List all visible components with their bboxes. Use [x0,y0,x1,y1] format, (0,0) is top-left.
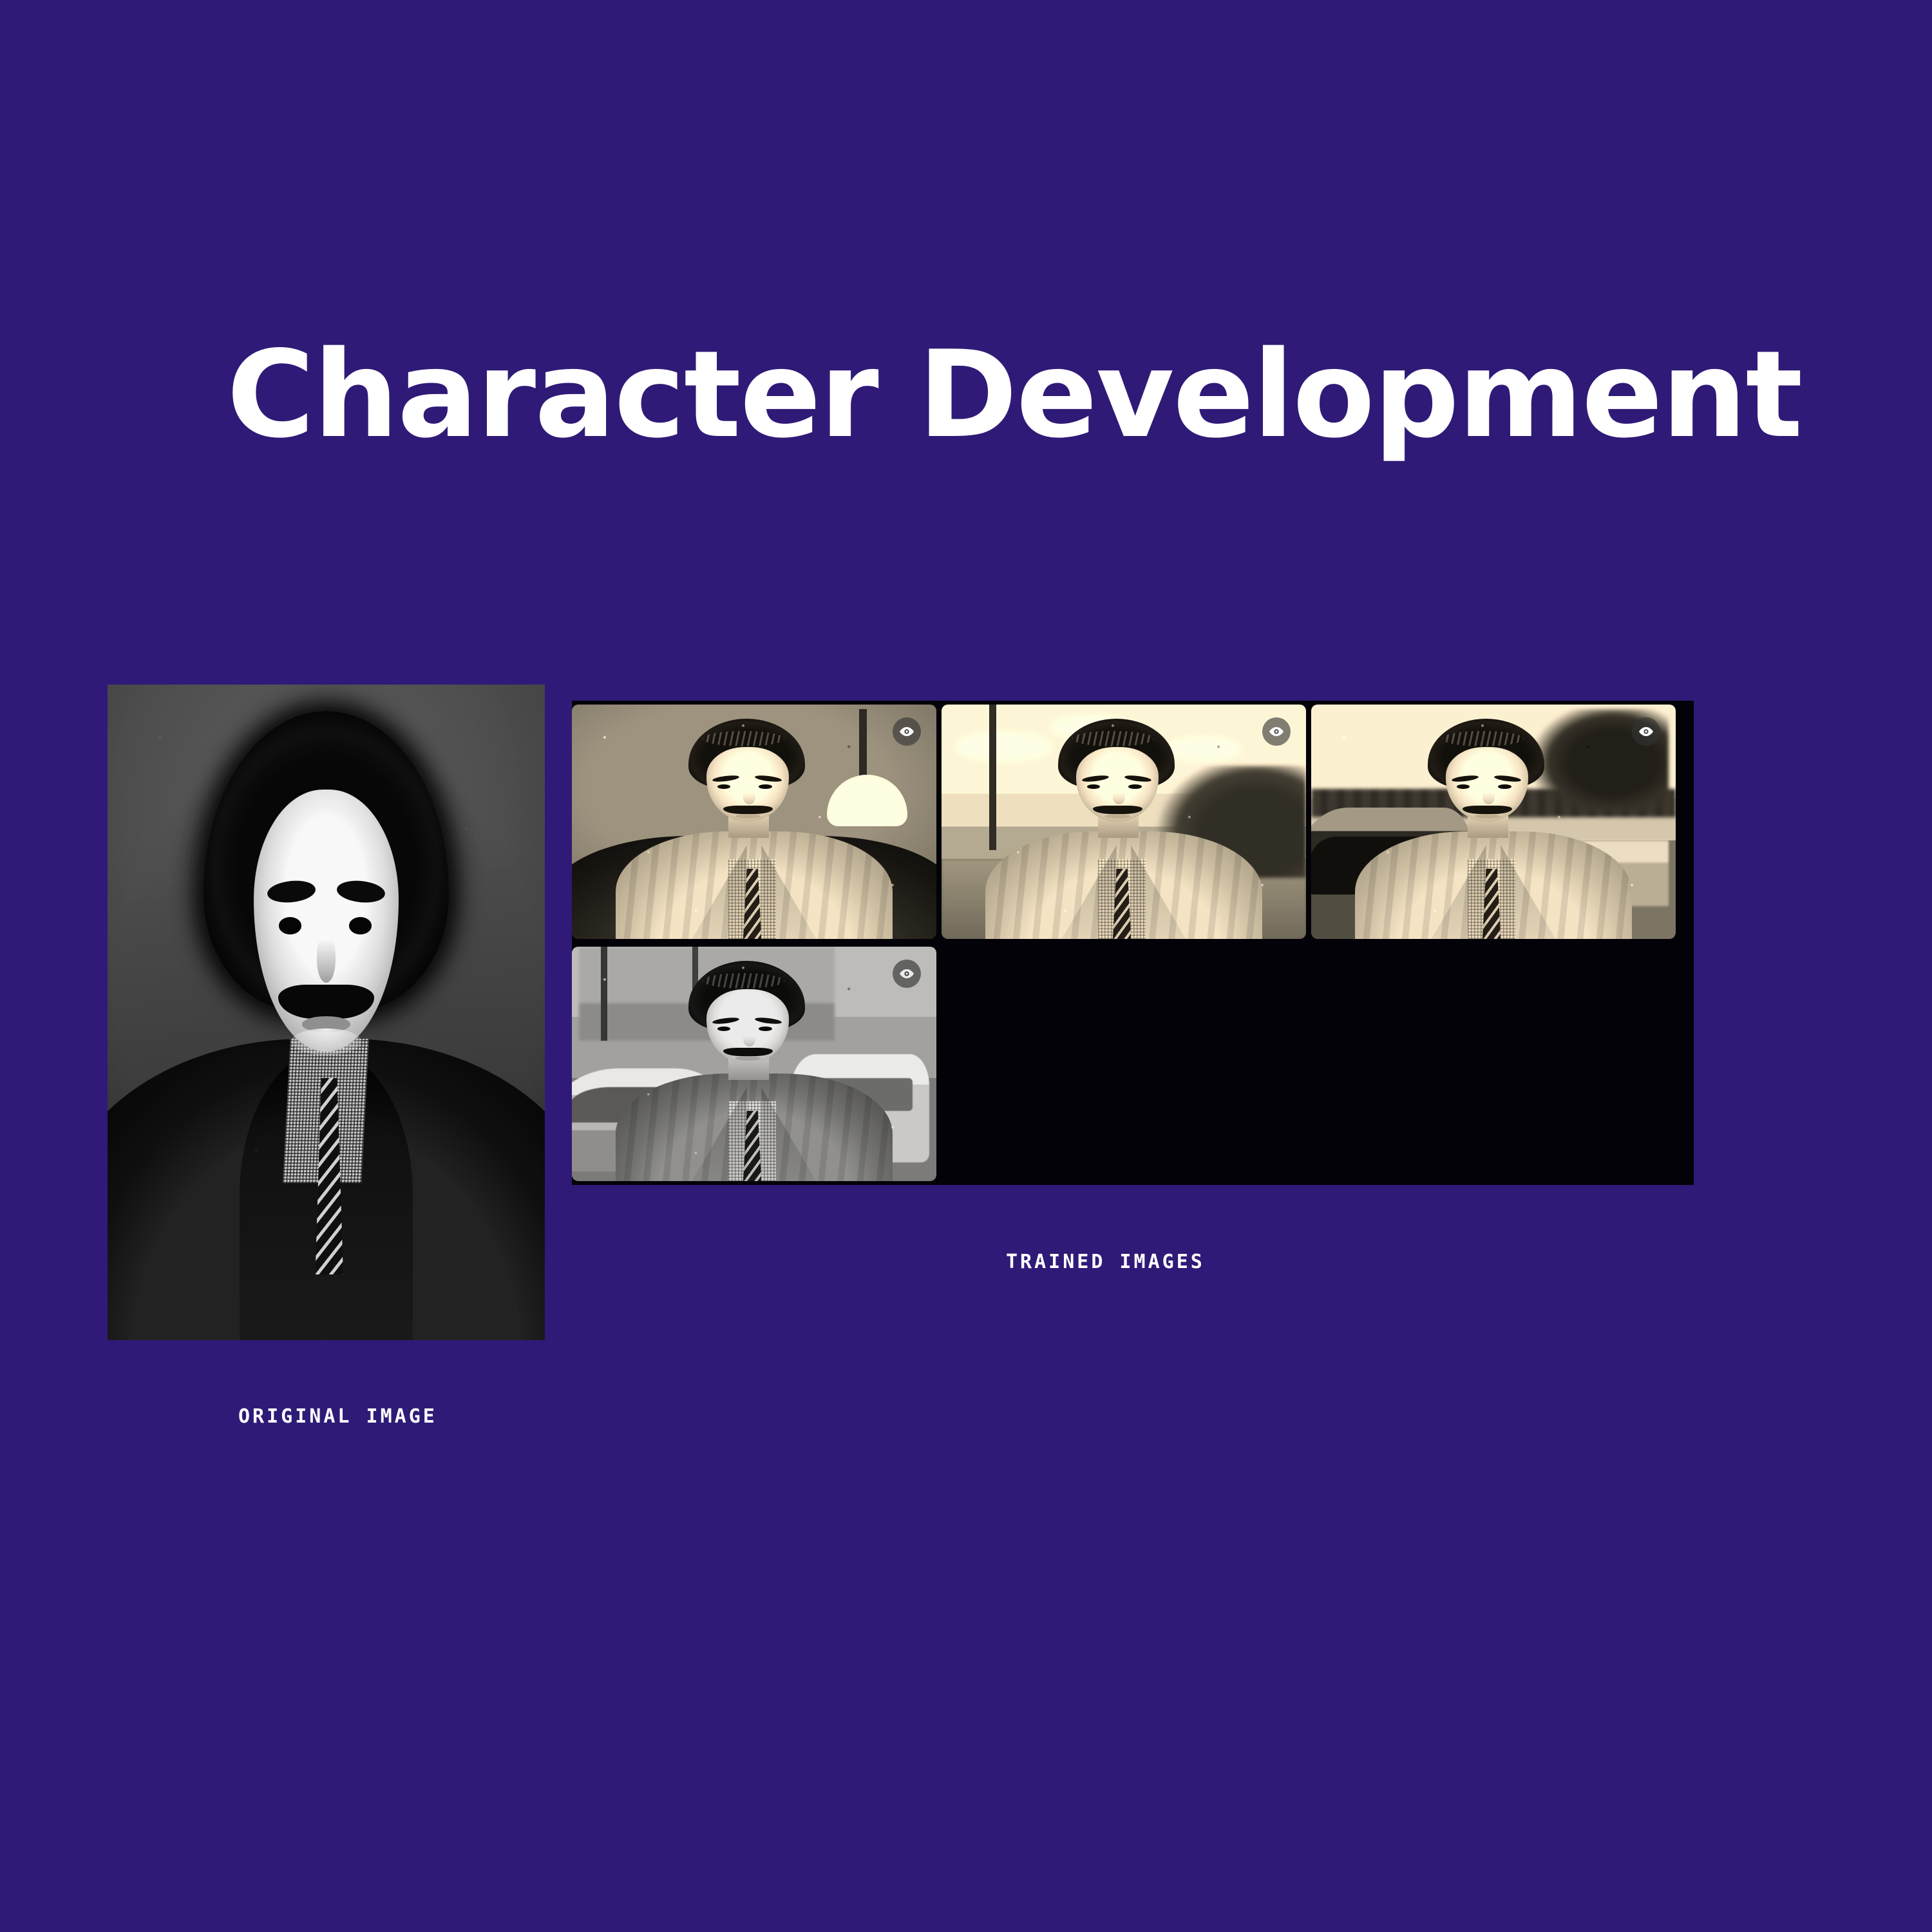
face-shape [254,790,398,1052]
studio-background [572,705,936,939]
thumb-photo-canvas [942,705,1306,939]
street-background [572,947,936,1181]
nose-shape [743,1032,755,1046]
car-shape [1311,808,1472,939]
moustache-shape [723,1048,772,1056]
jacket-shape [616,1074,893,1181]
necktie-shape [743,869,761,939]
trained-images-caption: TRAINED IMAGES [1006,1251,1205,1273]
original-image-panel [108,685,545,1340]
eye-right-shape [759,1027,772,1031]
hair-shape [204,711,448,1012]
lapel-right-shape [761,1087,816,1181]
lips-shape [302,1016,350,1032]
eye-right-shape [1128,784,1141,789]
eyebrow-right-shape [755,774,782,782]
trained-image-thumb[interactable] [572,701,942,943]
checked-shirt-shape [1468,859,1515,939]
original-image [108,685,545,1340]
lips-shape [735,1056,761,1061]
treeline-shape [1139,766,1306,878]
face-shape [706,747,788,822]
checked-shirt-shape [728,1101,776,1181]
eye-left-shape [717,1027,730,1031]
eye-left-shape [1087,784,1100,789]
lamp-shade-shape [827,775,907,826]
lapel-left-shape [1062,845,1117,939]
lapel-right-shape [761,845,816,939]
checked-shirt-shape [1098,859,1146,939]
lapel-left-shape [692,845,747,939]
eyebrow-left-shape [712,1016,740,1025]
eye-icon[interactable] [1632,717,1660,746]
eye-left-shape [279,917,301,934]
lips-shape [1475,814,1501,819]
eye-icon[interactable] [893,960,921,988]
empty-grid-cell [942,943,1311,1185]
jacket-shape [1355,831,1632,939]
necktie-shape [316,1078,343,1274]
eye-right-shape [759,784,772,789]
neck-shape [728,1057,768,1080]
trained-image-thumb[interactable] [1311,701,1681,943]
chin-shape [291,1028,361,1055]
outdoor-background [942,705,1306,939]
eye-right-shape [349,917,372,934]
neck-shape [1468,815,1508,838]
moustache-shape [1463,806,1511,814]
checked-collar-shape [283,1039,370,1183]
eyebrow-left-shape [712,774,740,782]
eye-left-shape [717,784,730,789]
hair-shape [1428,719,1544,789]
eyebrow-left-shape [266,879,316,905]
house-shape [1559,840,1669,906]
trained-images-panel [572,701,1694,1185]
eye-left-shape [1457,784,1470,789]
eyebrow-right-shape [1124,774,1152,782]
building-shape [579,947,834,1041]
lamp-pole-shape [859,709,867,784]
face-shape [1076,747,1158,822]
field-shape [942,859,1306,939]
trained-images-grid [572,701,1694,1185]
neck-shape [300,1012,352,1104]
eyebrow-right-shape [755,1016,782,1025]
hair-shape [688,719,805,789]
original-photo-canvas [108,685,545,1340]
lapel-right-shape [1501,845,1555,939]
lips-shape [735,814,761,819]
jacket-shape [985,831,1262,939]
nose-shape [1482,790,1495,804]
trained-image-1[interactable] [572,705,936,939]
trained-image-2[interactable] [942,705,1306,939]
eye-icon[interactable] [1262,717,1291,746]
van-shape [791,1054,929,1162]
utility-pole-shape [989,705,997,850]
cloud-shape [956,733,1051,761]
thumb-photo-canvas [572,947,936,1181]
moustache-shape [278,985,374,1019]
car-shape [572,1068,732,1171]
neck-shape [1098,815,1138,838]
sofa-shape [572,836,936,939]
lips-shape [1105,814,1131,819]
page-title: Character Development [227,335,1708,455]
hair-shape [1058,719,1175,789]
eyebrow-left-shape [1082,774,1110,782]
trained-image-4[interactable] [572,947,936,1181]
jacket-shape [616,831,893,939]
hair-shape [688,961,805,1031]
face-shape [1446,747,1528,822]
street-pole-shape [692,947,698,1017]
moustache-shape [1093,806,1142,814]
suit-shape [108,1039,545,1340]
treeline-shape [1311,789,1676,817]
trained-image-thumb[interactable] [942,701,1311,943]
trained-image-thumb[interactable] [572,943,942,1185]
neck-shape [728,815,768,838]
empty-grid-cell [1311,943,1681,1185]
thumb-photo-canvas [572,705,936,939]
face-shape [706,989,788,1064]
eye-icon[interactable] [893,717,921,746]
slide-canvas: Character Development ORIGINAL IMAGE [0,0,1932,1932]
necktie-shape [743,1111,761,1181]
lapel-right-shape [1131,845,1186,939]
nose-shape [743,790,755,804]
street-pole-shape [601,947,607,1041]
nose-shape [1113,790,1125,804]
eyebrow-left-shape [1452,774,1479,782]
nose-shape [317,937,336,983]
moustache-shape [723,806,772,814]
outdoor-car-background [1311,705,1676,939]
original-image-caption: ORIGINAL IMAGE [238,1405,437,1428]
eyebrow-right-shape [1494,774,1522,782]
lapel-left-shape [1432,845,1486,939]
necktie-shape [1482,869,1501,939]
checked-shirt-shape [728,859,776,939]
necktie-shape [1113,869,1131,939]
trained-image-3[interactable] [1311,705,1676,939]
eye-right-shape [1498,784,1511,789]
cloud-shape [1051,716,1132,737]
lapel-left-shape [692,1087,747,1181]
cloud-shape [1168,737,1240,761]
eyebrow-right-shape [336,879,386,905]
thumb-photo-canvas [1311,705,1676,939]
